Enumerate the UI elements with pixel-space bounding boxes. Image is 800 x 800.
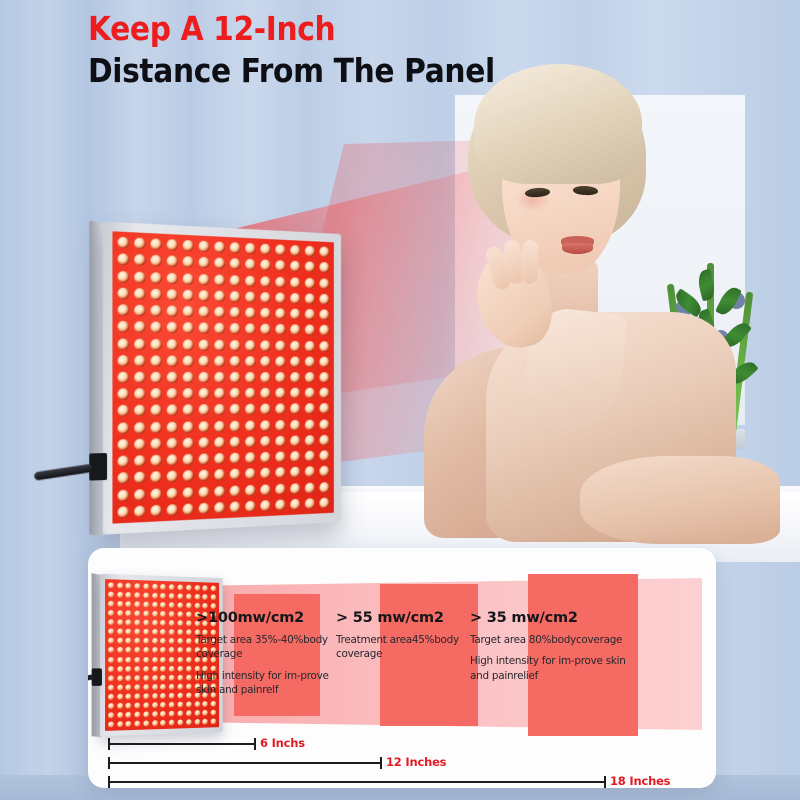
ruler-label: 6 Inchs: [260, 736, 305, 750]
led-bulb: [161, 629, 167, 635]
led-bulb: [167, 355, 178, 366]
led-bulb: [260, 420, 270, 431]
led-bulb: [186, 585, 192, 591]
led-bulb: [275, 420, 285, 431]
led-bulb: [152, 666, 158, 672]
led-bulb: [151, 322, 162, 333]
led-bulb: [118, 405, 129, 417]
led-bulb: [305, 309, 315, 320]
led-bulb: [245, 243, 255, 254]
led-bulb: [290, 293, 300, 304]
led-bulb: [186, 621, 192, 627]
led-bulb: [143, 593, 149, 599]
led-bulb: [178, 692, 184, 698]
led-bulb: [260, 340, 270, 351]
ruler-line: [108, 781, 604, 783]
led-bulb: [152, 620, 158, 626]
led-bulb: [230, 258, 241, 269]
led-bulb: [169, 666, 175, 672]
intensity-desc: Target area 80%bodycoverage: [470, 633, 656, 647]
led-bulb: [245, 452, 255, 463]
led-bulb: [305, 325, 315, 336]
led-bulb: [134, 472, 145, 484]
led-bulb: [214, 437, 225, 448]
intensity-block-3: > 35 mw/cm2 Target area 80%bodycoverage …: [470, 610, 656, 683]
led-bulb: [260, 292, 270, 303]
led-bulb: [260, 276, 270, 287]
led-bulb: [134, 338, 145, 349]
led-bulb: [183, 339, 194, 350]
led-bulb: [245, 420, 255, 431]
led-bulb: [214, 307, 225, 318]
led-bulb: [183, 240, 194, 252]
led-bulb: [245, 259, 255, 270]
led-bulb: [118, 473, 129, 485]
led-bulb: [275, 276, 285, 287]
led-bulb: [161, 711, 167, 717]
led-bulb: [211, 586, 217, 592]
led-bulb: [275, 388, 285, 399]
led-bulb: [186, 603, 192, 609]
model-finger: [521, 240, 539, 285]
led-bulb: [108, 657, 114, 663]
led-bulb: [214, 404, 225, 415]
measurement-rulers: 6 Inchs 12 Inches 18 Inches: [88, 738, 716, 786]
led-bulb: [169, 647, 175, 653]
led-bulb: [199, 257, 210, 269]
led-bulb: [214, 290, 225, 301]
led-bulb: [118, 372, 129, 383]
led-bulb: [260, 404, 270, 415]
led-bulb: [199, 486, 210, 498]
headline-line-1: Keep A 12-Inch: [88, 12, 495, 45]
led-bulb: [290, 467, 300, 478]
led-bulb: [135, 583, 141, 589]
led-bulb: [126, 647, 132, 653]
led-bulb: [260, 500, 270, 511]
led-bulb: [290, 356, 300, 367]
led-bulb: [230, 437, 241, 448]
led-bulb: [290, 388, 300, 399]
led-bulb: [186, 648, 192, 654]
led-bulb: [135, 666, 141, 672]
led-bulb: [161, 647, 167, 653]
led-bulb: [320, 419, 330, 430]
led-bulb: [152, 684, 158, 690]
led-bulb: [245, 388, 255, 399]
led-bulb: [230, 388, 241, 399]
led-bulb: [183, 405, 194, 416]
led-bulb: [230, 242, 241, 253]
led-bulb: [151, 238, 162, 250]
led-bulb: [161, 693, 167, 699]
led-bulb: [194, 701, 200, 707]
led-bulb: [199, 274, 210, 285]
led-bulb: [290, 261, 300, 272]
led-bulb: [143, 629, 149, 635]
led-bulb: [117, 693, 123, 699]
led-bulb: [290, 277, 300, 288]
led-bulb: [183, 355, 194, 366]
led-bulb: [203, 603, 209, 609]
led-bulb: [169, 602, 175, 608]
led-bulb: [152, 647, 158, 653]
led-bulb: [108, 675, 114, 681]
led-bulb: [135, 684, 141, 690]
led-bulb: [178, 701, 184, 707]
led-bulb: [161, 657, 167, 663]
led-bulb: [214, 421, 225, 432]
led-bulb: [167, 421, 178, 432]
led-bulb: [167, 256, 178, 268]
led-bulb: [161, 611, 167, 617]
led-bulb: [230, 340, 241, 351]
led-bulb: [245, 436, 255, 447]
power-cable: [88, 672, 102, 683]
led-bulb: [260, 244, 270, 255]
led-bulb: [199, 421, 210, 432]
model-arm: [580, 456, 780, 544]
led-bulb: [151, 471, 162, 483]
led-bulb: [275, 468, 285, 479]
led-bulb: [161, 720, 167, 726]
led-bulb: [275, 483, 285, 494]
led-bulb: [214, 323, 225, 334]
led-bulb: [152, 693, 158, 699]
led-bulb: [178, 593, 184, 599]
led-bulb: [151, 288, 162, 300]
intensity-desc: High intensity for im-prove skin and pai…: [196, 669, 364, 698]
led-bulb: [108, 638, 114, 644]
intensity-desc-line: High intensity for im-prove skin: [470, 654, 656, 668]
led-bulb: [178, 648, 184, 654]
led-bulb: [275, 404, 285, 415]
led-bulb: [169, 711, 175, 717]
led-bulb: [178, 602, 184, 608]
led-bulb: [167, 405, 178, 416]
led-grid: [116, 235, 332, 521]
led-bulb: [183, 256, 194, 268]
led-bulb: [126, 721, 132, 727]
led-bulb: [126, 666, 132, 672]
led-bulb: [186, 657, 192, 663]
led-bulb: [178, 719, 184, 725]
intensity-desc-line: and painrelief: [470, 669, 656, 683]
led-bulb: [143, 693, 149, 699]
led-bulb: [151, 422, 162, 433]
led-bulb: [169, 675, 175, 681]
led-bulb: [275, 436, 285, 447]
led-bulb: [134, 505, 145, 517]
led-bulb: [167, 306, 178, 317]
led-bulb: [320, 262, 330, 273]
led-bulb: [214, 339, 225, 350]
led-bulb: [305, 246, 315, 257]
led-bulb: [134, 254, 145, 266]
led-bulb: [118, 271, 129, 283]
led-bulb: [178, 657, 184, 663]
led-bulb: [169, 657, 175, 663]
led-bulb: [214, 258, 225, 269]
led-bulb: [118, 506, 129, 518]
led-bulb: [143, 684, 149, 690]
intensity-desc-line: skin and painrelf: [196, 683, 364, 697]
led-bulb: [161, 675, 167, 681]
led-bulb: [118, 389, 129, 400]
led-bulb: [320, 325, 330, 336]
led-bulb: [214, 486, 225, 497]
led-bulb: [186, 710, 192, 716]
led-bulb: [178, 612, 184, 618]
led-bulb: [186, 612, 192, 618]
led-bulb: [186, 594, 192, 600]
led-bulb: [167, 372, 178, 383]
led-bulb: [126, 583, 132, 589]
led-bulb: [151, 438, 162, 450]
led-bulb: [260, 308, 270, 319]
led-bulb: [245, 485, 255, 496]
led-bulb: [169, 638, 175, 644]
led-bulb: [126, 657, 132, 663]
led-bulb: [320, 403, 330, 414]
led-bulb: [178, 665, 184, 671]
led-bulb: [183, 289, 194, 300]
led-bulb: [275, 260, 285, 271]
led-bulb: [260, 468, 270, 479]
led-bulb: [151, 372, 162, 383]
led-bulb: [211, 701, 217, 707]
led-bulb: [134, 405, 145, 416]
led-bulb: [135, 601, 141, 607]
led-bulb: [117, 629, 123, 635]
led-bulb: [152, 611, 158, 617]
led-bulb: [169, 620, 175, 626]
led-bulb: [305, 467, 315, 478]
led-bulb: [126, 675, 132, 681]
led-bulb: [117, 712, 123, 718]
led-bulb: [320, 247, 330, 258]
led-bulb: [183, 438, 194, 449]
led-bulb: [167, 239, 178, 251]
led-bulb: [183, 487, 194, 499]
led-bulb: [183, 372, 194, 383]
led-bulb: [151, 355, 162, 366]
led-bulb: [161, 702, 167, 708]
intensity-title: > 35 mw/cm2: [470, 610, 656, 626]
led-bulb: [211, 718, 217, 724]
led-bulb: [275, 308, 285, 319]
led-bulb: [260, 436, 270, 447]
led-bulb: [194, 603, 200, 609]
led-bulb: [275, 292, 285, 303]
led-bulb: [161, 602, 167, 608]
led-bulb: [161, 584, 167, 590]
led-bulb: [199, 388, 210, 399]
led-bulb: [214, 372, 225, 383]
led-bulb: [199, 241, 210, 253]
cable-wire: [34, 464, 93, 481]
led-bulb: [143, 638, 149, 644]
led-bulb: [245, 356, 255, 367]
model-lips: [562, 243, 593, 254]
led-bulb: [167, 438, 178, 449]
panel-face: [112, 231, 333, 523]
led-bulb: [214, 469, 225, 480]
led-bulb: [305, 435, 315, 446]
led-bulb: [203, 585, 209, 591]
led-bulb: [305, 419, 315, 430]
led-bulb: [135, 675, 141, 681]
led-bulb: [135, 620, 141, 626]
led-bulb: [203, 719, 209, 725]
led-bulb: [152, 702, 158, 708]
led-bulb: [167, 454, 178, 466]
led-bulb: [117, 721, 123, 727]
led-bulb: [214, 356, 225, 367]
led-bulb: [186, 719, 192, 725]
led-bulb: [135, 638, 141, 644]
led-bulb: [199, 454, 210, 465]
led-bulb: [152, 711, 158, 717]
led-bulb: [108, 666, 114, 672]
led-bulb: [320, 388, 330, 399]
led-bulb: [161, 593, 167, 599]
intensity-desc-line: Target area 80%bodycoverage: [470, 633, 656, 647]
model-figure: [430, 60, 760, 530]
led-bulb: [194, 585, 200, 591]
ruler-label: 18 Inches: [610, 774, 670, 788]
led-bulb: [183, 470, 194, 482]
led-bulb: [320, 372, 330, 383]
led-bulb: [134, 321, 145, 333]
led-bulb: [203, 594, 209, 600]
led-bulb: [186, 683, 192, 689]
led-bulb: [199, 372, 210, 383]
intensity-desc-line: High intensity for im-prove: [196, 669, 364, 683]
led-bulb: [152, 657, 158, 663]
led-bulb: [118, 422, 129, 434]
led-bulb: [135, 611, 141, 617]
led-bulb: [161, 684, 167, 690]
led-bulb: [199, 290, 210, 301]
led-bulb: [108, 629, 114, 635]
led-bulb: [117, 684, 123, 690]
led-bulb: [199, 339, 210, 350]
led-bulb: [275, 356, 285, 367]
led-panel-hero: [103, 221, 341, 534]
led-bulb: [169, 629, 175, 635]
led-bulb: [183, 421, 194, 432]
distance-diagram-card: >100mw/cm2 Target area 35%-40%body cover…: [88, 548, 716, 788]
led-bulb: [108, 619, 114, 625]
led-bulb: [230, 372, 241, 383]
led-bulb: [305, 498, 315, 509]
led-bulb: [161, 638, 167, 644]
led-bulb: [134, 372, 145, 383]
ruler-end-cap: [380, 757, 382, 769]
led-bulb: [305, 356, 315, 367]
led-bulb: [290, 499, 300, 510]
ruler-line: [108, 762, 380, 764]
led-bulb: [183, 306, 194, 317]
led-bulb: [186, 674, 192, 680]
led-bulb: [183, 322, 194, 333]
product-infographic: Keep A 12-Inch Distance From The Panel >…: [0, 0, 800, 800]
led-bulb: [194, 594, 200, 600]
led-bulb: [118, 439, 129, 451]
led-bulb: [126, 629, 132, 635]
led-bulb: [186, 665, 192, 671]
led-bulb: [305, 451, 315, 462]
led-bulb: [305, 262, 315, 273]
led-bulb: [275, 372, 285, 383]
led-bulb: [230, 323, 241, 334]
led-bulb: [320, 278, 330, 289]
ruler-end-cap: [254, 738, 256, 750]
led-bulb: [290, 420, 300, 431]
led-bulb: [134, 439, 145, 451]
led-bulb: [143, 602, 149, 608]
led-bulb: [186, 701, 192, 707]
led-bulb: [151, 338, 162, 349]
led-bulb: [230, 501, 241, 512]
ruler-label: 12 Inches: [386, 755, 446, 769]
led-bulb: [134, 389, 145, 400]
led-bulb: [117, 647, 123, 653]
led-bulb: [245, 275, 255, 286]
led-bulb: [167, 388, 178, 399]
led-bulb: [169, 693, 175, 699]
led-bulb: [126, 638, 132, 644]
led-bulb: [178, 584, 184, 590]
led-bulb: [151, 505, 162, 517]
led-bulb: [183, 454, 194, 465]
led-bulb: [134, 355, 145, 366]
led-bulb: [118, 287, 129, 299]
led-bulb: [152, 593, 158, 599]
led-bulb: [260, 484, 270, 495]
led-bulb: [305, 372, 315, 383]
led-bulb: [161, 620, 167, 626]
led-bulb: [134, 288, 145, 300]
led-bulb: [260, 260, 270, 271]
led-bulb: [152, 638, 158, 644]
led-bulb: [143, 647, 149, 653]
led-bulb: [305, 388, 315, 399]
led-bulb: [194, 710, 200, 716]
led-bulb: [305, 482, 315, 493]
led-bulb: [214, 242, 225, 254]
led-bulb: [245, 372, 255, 383]
led-bulb: [118, 456, 129, 468]
led-bulb: [245, 340, 255, 351]
led-bulb: [143, 611, 149, 617]
led-bulb: [199, 306, 210, 317]
led-bulb: [183, 503, 194, 515]
led-bulb: [167, 339, 178, 350]
led-bulb: [211, 603, 217, 609]
led-bulb: [169, 702, 175, 708]
led-bulb: [126, 684, 132, 690]
led-bulb: [245, 468, 255, 479]
led-bulb: [152, 675, 158, 681]
led-bulb: [118, 237, 129, 249]
led-bulb: [320, 341, 330, 352]
led-bulb: [199, 356, 210, 367]
led-bulb: [214, 388, 225, 399]
led-bulb: [134, 422, 145, 434]
led-bulb: [275, 324, 285, 335]
